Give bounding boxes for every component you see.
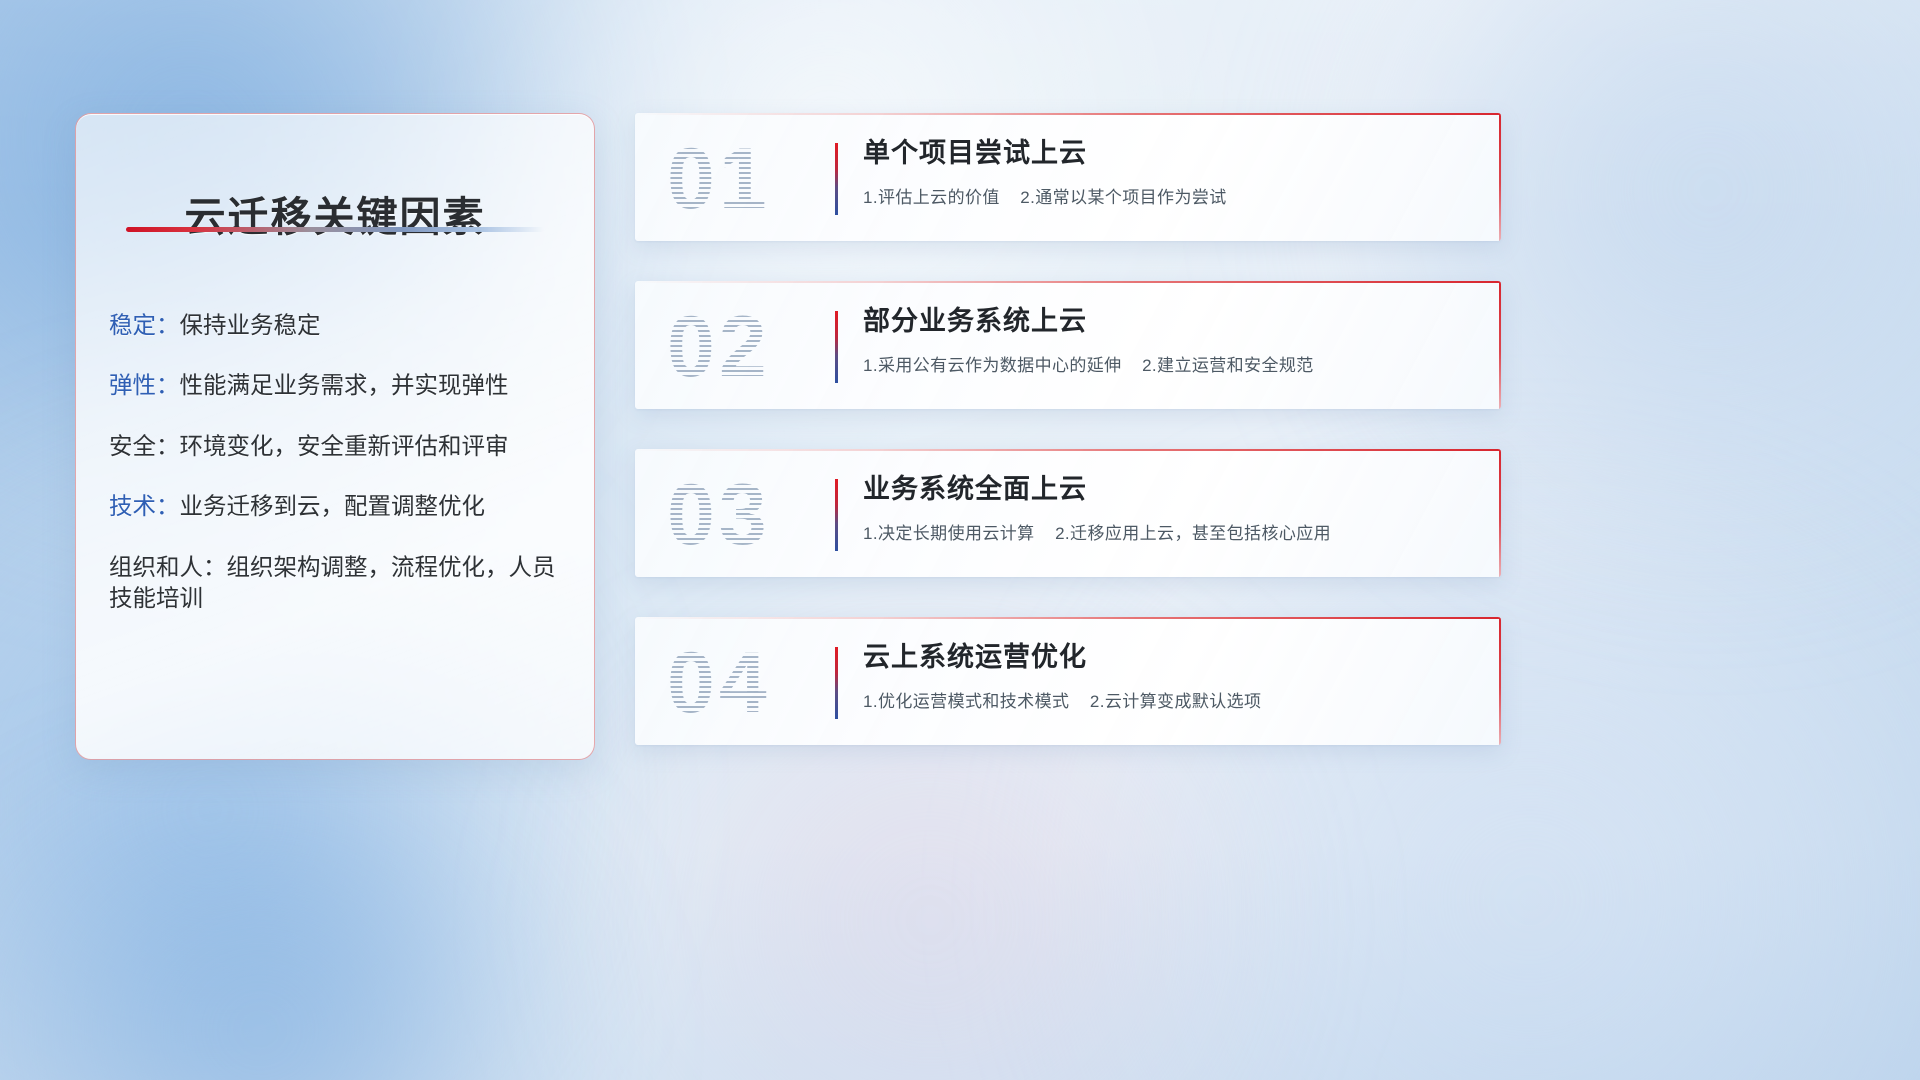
stage-title: 单个项目尝试上云 bbox=[863, 137, 1471, 171]
stage-accent-bar bbox=[835, 479, 838, 551]
stage-text-block: 单个项目尝试上云 1.评估上云的价值 2.通常以某个项目作为尝试 bbox=[863, 137, 1471, 208]
key-factors-list: 稳定：保持业务稳定 弹性：性能满足业务需求，并实现弹性 安全：环境变化，安全重新… bbox=[109, 310, 572, 644]
stage-title: 部分业务系统上云 bbox=[863, 305, 1471, 339]
stage-card[interactable]: 03 业务系统全面上云 1.决定长期使用云计算 2.迁移应用上云，甚至包括核心应… bbox=[635, 449, 1501, 577]
list-item-label: 安全： bbox=[109, 433, 180, 459]
list-item-text: 环境变化，安全重新评估和评审 bbox=[180, 433, 509, 459]
list-item-text: 业务迁移到云，配置调整优化 bbox=[180, 493, 486, 519]
stage-number: 04 bbox=[667, 631, 847, 735]
cloud-migration-stage-cards: 01 单个项目尝试上云 1.评估上云的价值 2.通常以某个项目作为尝试 02 部… bbox=[635, 113, 1501, 785]
stage-description: 1.优化运营模式和技术模式 2.云计算变成默认选项 bbox=[863, 687, 1471, 712]
stage-card[interactable]: 01 单个项目尝试上云 1.评估上云的价值 2.通常以某个项目作为尝试 bbox=[635, 113, 1501, 241]
stage-number: 03 bbox=[667, 463, 847, 567]
stage-accent-bar bbox=[835, 143, 838, 215]
list-item-label: 技术： bbox=[109, 493, 180, 519]
list-item: 弹性：性能满足业务需求，并实现弹性 bbox=[109, 370, 572, 401]
stage-title: 云上系统运营优化 bbox=[863, 641, 1471, 675]
panel-title: 云迁移关键因素 bbox=[76, 183, 594, 243]
list-item-label: 弹性： bbox=[109, 372, 180, 398]
stage-number: 02 bbox=[667, 295, 847, 399]
list-item-label: 组织和人： bbox=[109, 554, 227, 580]
stage-text-block: 云上系统运营优化 1.优化运营模式和技术模式 2.云计算变成默认选项 bbox=[863, 641, 1471, 712]
stage-card[interactable]: 02 部分业务系统上云 1.采用公有云作为数据中心的延伸 2.建立运营和安全规范 bbox=[635, 281, 1501, 409]
stage-description: 1.评估上云的价值 2.通常以某个项目作为尝试 bbox=[863, 183, 1471, 208]
key-factors-panel: 云迁移关键因素 稳定：保持业务稳定 弹性：性能满足业务需求，并实现弹性 安全：环… bbox=[75, 113, 595, 760]
title-underline-rule bbox=[126, 227, 544, 232]
stage-accent-bar bbox=[835, 647, 838, 719]
list-item: 安全：环境变化，安全重新评估和评审 bbox=[109, 431, 572, 462]
stage-text-block: 业务系统全面上云 1.决定长期使用云计算 2.迁移应用上云，甚至包括核心应用 bbox=[863, 473, 1471, 544]
list-item: 稳定：保持业务稳定 bbox=[109, 310, 572, 341]
stage-title: 业务系统全面上云 bbox=[863, 473, 1471, 507]
list-item-text: 保持业务稳定 bbox=[180, 312, 321, 338]
stage-card[interactable]: 04 云上系统运营优化 1.优化运营模式和技术模式 2.云计算变成默认选项 bbox=[635, 617, 1501, 745]
list-item-label: 稳定： bbox=[109, 312, 180, 338]
list-item-text: 性能满足业务需求，并实现弹性 bbox=[180, 372, 509, 398]
list-item: 组织和人：组织架构调整，流程优化，人员技能培训 bbox=[109, 552, 572, 615]
stage-accent-bar bbox=[835, 311, 838, 383]
stage-number: 01 bbox=[667, 127, 847, 231]
stage-text-block: 部分业务系统上云 1.采用公有云作为数据中心的延伸 2.建立运营和安全规范 bbox=[863, 305, 1471, 376]
list-item: 技术：业务迁移到云，配置调整优化 bbox=[109, 491, 572, 522]
stage-description: 1.决定长期使用云计算 2.迁移应用上云，甚至包括核心应用 bbox=[863, 519, 1471, 544]
stage-description: 1.采用公有云作为数据中心的延伸 2.建立运营和安全规范 bbox=[863, 351, 1471, 376]
